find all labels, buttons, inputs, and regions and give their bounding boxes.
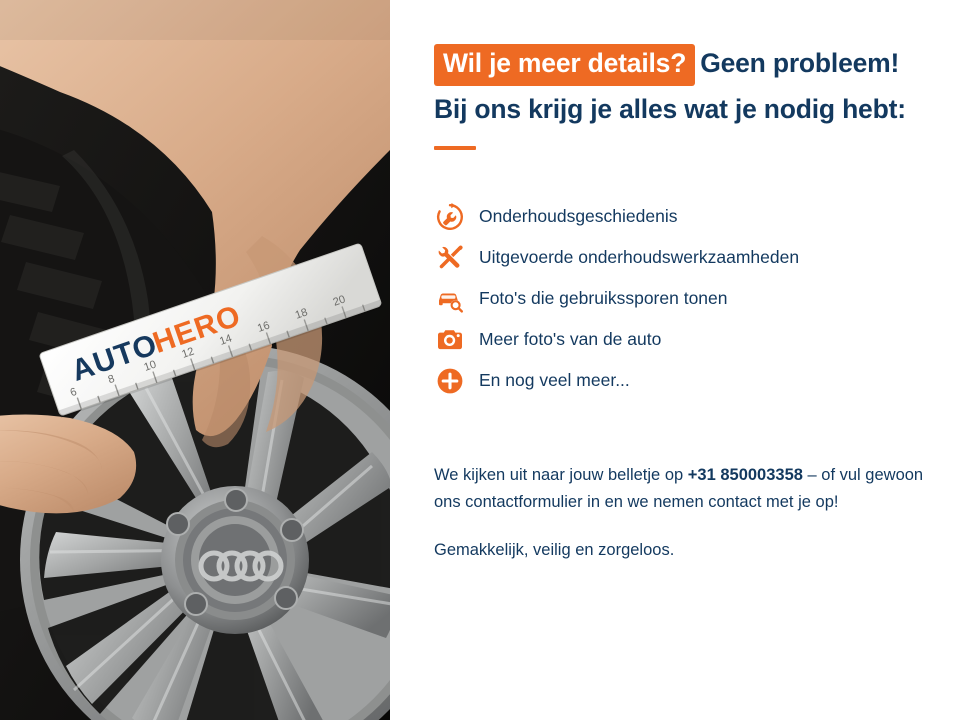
feature-item-wear-photos: Foto's die gebruikssporen tonen	[434, 278, 914, 319]
headline-badge: Wil je meer details?	[434, 44, 695, 86]
headline-block: Wil je meer details?Geen probleem! Bij o…	[434, 44, 934, 126]
feature-item-maintenance-history: Onderhoudsgeschiedenis	[434, 196, 914, 237]
contact-text-before-phone: We kijken uit naar jouw belletje op	[434, 466, 688, 484]
feature-item-maintenance-work: Uitgevoerde onderhoudswerkzaamheden	[434, 237, 914, 278]
car-inspection-icon	[434, 283, 466, 315]
feature-label: Uitgevoerde onderhoudswerkzaamheden	[479, 247, 799, 268]
contact-tagline: Gemakkelijk, veilig en zorgeloos.	[434, 537, 934, 564]
contact-paragraph: We kijken uit naar jouw belletje op +31 …	[434, 462, 934, 515]
headline-line-1: Wil je meer details?Geen probleem!	[434, 44, 934, 86]
contact-block: We kijken uit naar jouw belletje op +31 …	[434, 462, 934, 564]
contact-phone-number[interactable]: +31 850003358	[688, 466, 803, 484]
tools-wrench-screwdriver-icon	[434, 242, 466, 274]
headline-rest: Geen probleem!	[700, 48, 899, 78]
feature-label: Onderhoudsgeschiedenis	[479, 206, 677, 227]
feature-label: En nog veel meer...	[479, 370, 630, 391]
content-panel: Wil je meer details?Geen probleem! Bij o…	[390, 0, 960, 720]
feature-label: Foto's die gebruikssporen tonen	[479, 288, 728, 309]
feature-item-and-more: En nog veel meer...	[434, 360, 914, 401]
plus-circle-icon	[434, 365, 466, 397]
hero-photo-panel: AUTO HERO 68 1012 1416 1820	[0, 0, 390, 720]
headline-line-2: Bij ons krijg je alles wat je nodig hebt…	[434, 92, 934, 126]
feature-label: Meer foto's van de auto	[479, 329, 661, 350]
feature-list: Onderhoudsgeschiedenis Uitgevoerde onder…	[434, 196, 914, 401]
feature-item-more-photos: Meer foto's van de auto	[434, 319, 914, 360]
autohero-details-banner: AUTO HERO 68 1012 1416 1820	[0, 0, 960, 720]
maintenance-history-icon	[434, 201, 466, 233]
camera-icon	[434, 324, 466, 356]
orange-divider	[434, 146, 476, 150]
wheel-measurement-photo: AUTO HERO 68 1012 1416 1820	[0, 0, 390, 720]
